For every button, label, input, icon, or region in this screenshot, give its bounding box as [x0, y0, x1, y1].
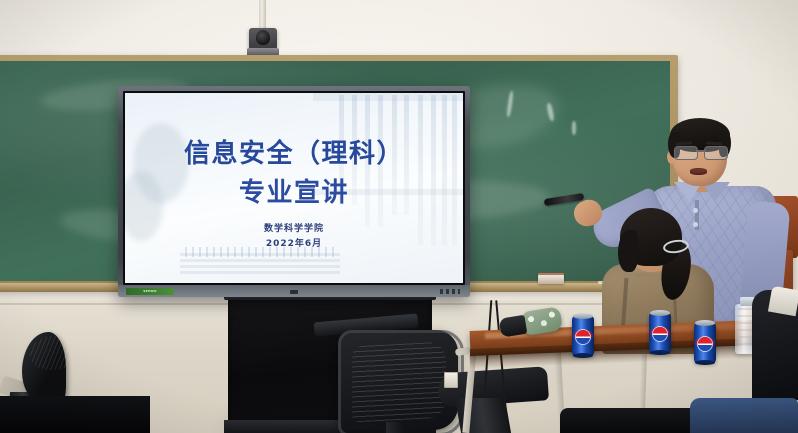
black-chair-armrest — [14, 332, 74, 404]
slide-date: 2022年6月 — [125, 236, 463, 249]
pepsi-logo-icon — [653, 327, 667, 341]
slide-background-steps — [180, 253, 340, 275]
pepsi-logo-icon — [698, 337, 712, 351]
panel-brand-text: SEEWO — [126, 288, 174, 295]
attendee-denim — [690, 398, 798, 433]
eyeglasses-icon — [672, 146, 730, 158]
interactive-flat-panel[interactable]: 信息安全（理科） 专业宣讲 数学科学学院 2022年6月 SEEWO — [118, 86, 470, 297]
pepsi-can[interactable] — [649, 313, 671, 353]
can-top — [650, 310, 670, 316]
can-bottom — [695, 360, 715, 365]
glasses-bridge — [696, 150, 706, 152]
chalk-eraser — [538, 275, 564, 284]
umbrella-handle — [499, 315, 528, 338]
panel-ir-receiver-icon — [290, 290, 298, 294]
pepsi-can[interactable] — [572, 316, 594, 356]
can-bottom — [650, 350, 670, 355]
can-bottom — [573, 353, 593, 358]
glasses-lens-left — [674, 146, 698, 160]
camera-mount-pole — [259, 0, 266, 30]
wall-socket[interactable] — [444, 372, 458, 388]
panel-inner-frame: 信息安全（理科） 专业宣讲 数学科学学院 2022年6月 — [123, 91, 465, 285]
pepsi-logo-icon — [576, 330, 590, 344]
panel-bottom-bezel: SEEWO — [118, 285, 470, 297]
presentation-slide: 信息安全（理科） 专业宣讲 数学科学学院 2022年6月 — [125, 93, 463, 283]
student-hair-side — [618, 230, 638, 272]
slide-title-line2: 专业宣讲 — [125, 172, 463, 209]
panel-brand-label: SEEWO — [126, 288, 174, 295]
slide-title-line1: 信息安全（理科） — [125, 133, 463, 170]
can-top — [695, 320, 715, 326]
foreground-dark-right — [560, 408, 690, 433]
classroom-photo: 信息安全（理科） 专业宣讲 数学科学学院 2022年6月 SEEWO — [0, 0, 798, 433]
can-top — [573, 313, 593, 319]
panel-ports[interactable] — [440, 289, 460, 294]
foreground-dark-left — [0, 396, 150, 433]
slide-organization: 数学科学学院 — [125, 221, 463, 234]
chair-center-post — [386, 422, 404, 433]
glasses-lens-right — [704, 146, 728, 160]
presenter-mouth — [690, 168, 707, 175]
camera-lens-icon — [256, 30, 270, 45]
attendee-collar — [768, 286, 798, 316]
pepsi-can[interactable] — [694, 323, 716, 363]
chalk-mark — [572, 121, 576, 135]
